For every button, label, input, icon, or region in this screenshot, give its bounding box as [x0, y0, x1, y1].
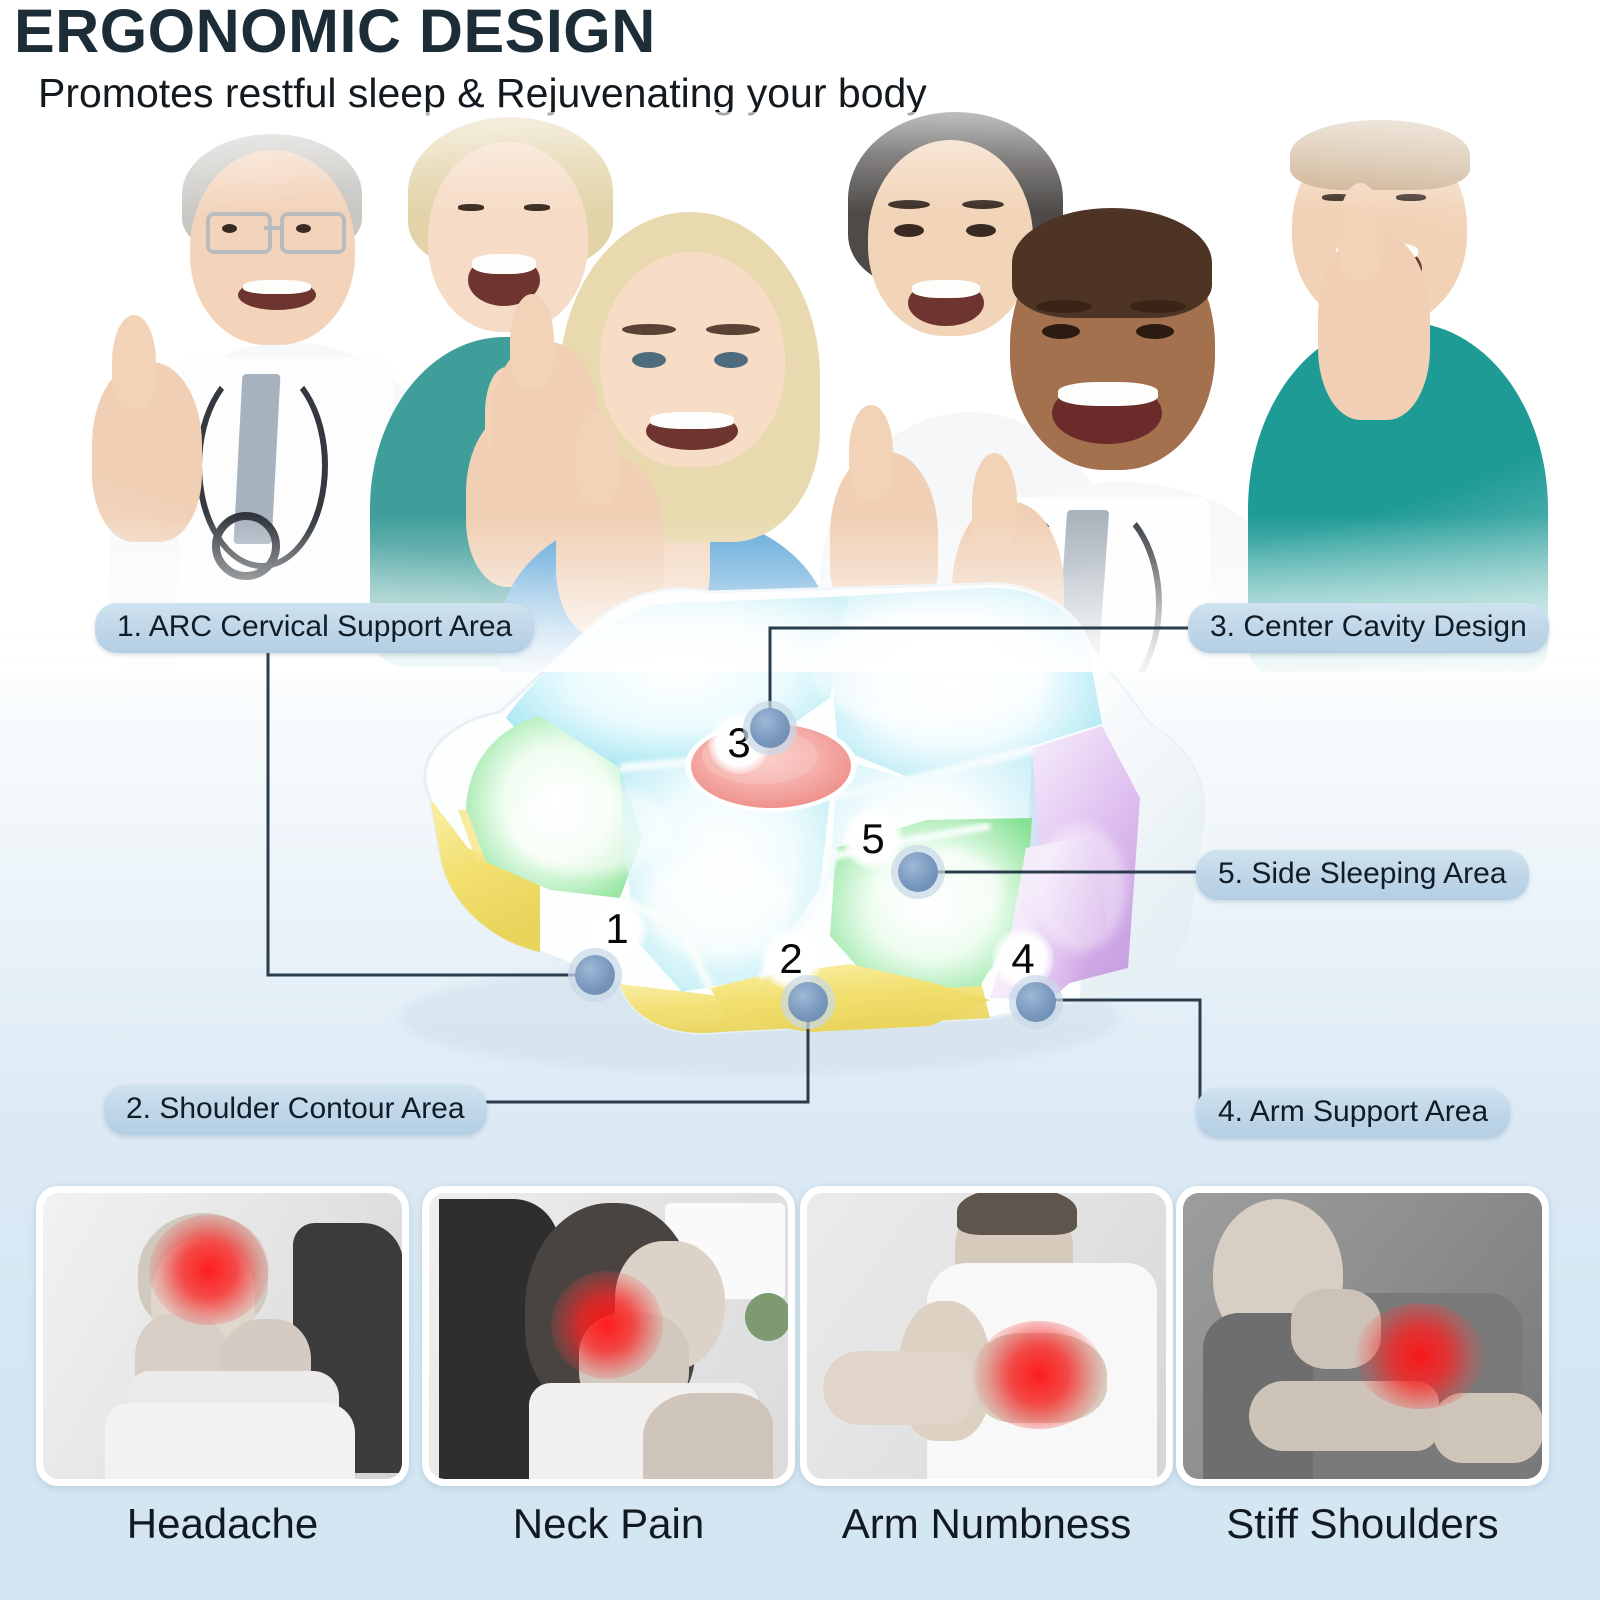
callout-marker-5[interactable] — [898, 852, 938, 892]
page-title: ERGONOMIC DESIGN — [14, 0, 656, 66]
callout-marker-2[interactable] — [788, 982, 828, 1022]
callout-marker-4[interactable] — [1016, 982, 1056, 1022]
pain-highlight — [551, 1271, 663, 1379]
condition-card-stiff-shoulders[interactable] — [1176, 1186, 1549, 1486]
callout-number-2: 2 — [760, 928, 822, 990]
condition-image-stiff-shoulders — [1183, 1193, 1542, 1479]
condition-caption-neck-pain: Neck Pain — [422, 1500, 795, 1548]
condition-cards — [0, 1186, 1600, 1496]
callout-label-1[interactable]: 1. ARC Cervical Support Area — [95, 603, 534, 653]
callout-label-3[interactable]: 3. Center Cavity Design — [1188, 603, 1549, 653]
condition-image-headache — [43, 1193, 402, 1479]
callout-number-4: 4 — [992, 928, 1054, 990]
callout-marker-1[interactable] — [575, 955, 615, 995]
callout-number-1: 1 — [586, 898, 648, 960]
condition-image-arm-numbness — [807, 1193, 1166, 1479]
callout-marker-3[interactable] — [750, 708, 790, 748]
condition-caption-stiff-shoulders: Stiff Shoulders — [1176, 1500, 1549, 1548]
condition-image-neck-pain — [429, 1193, 788, 1479]
infographic-page: ERGONOMIC DESIGN Promotes restful sleep … — [0, 0, 1600, 1600]
condition-card-arm-numbness[interactable] — [800, 1186, 1173, 1486]
condition-caption-headache: Headache — [36, 1500, 409, 1548]
page-subtitle: Promotes restful sleep & Rejuvenating yo… — [38, 70, 927, 117]
callout-number-5: 5 — [842, 808, 904, 870]
callout-label-4[interactable]: 4. Arm Support Area — [1196, 1088, 1510, 1138]
callout-label-2[interactable]: 2. Shoulder Contour Area — [104, 1085, 487, 1135]
pain-highlight — [149, 1215, 269, 1325]
condition-card-neck-pain[interactable] — [422, 1186, 795, 1486]
condition-card-headache[interactable] — [36, 1186, 409, 1486]
pain-highlight — [973, 1321, 1105, 1429]
callout-label-5[interactable]: 5. Side Sleeping Area — [1196, 850, 1529, 900]
condition-caption-arm-numbness: Arm Numbness — [800, 1500, 1173, 1548]
pain-highlight — [1355, 1303, 1485, 1409]
